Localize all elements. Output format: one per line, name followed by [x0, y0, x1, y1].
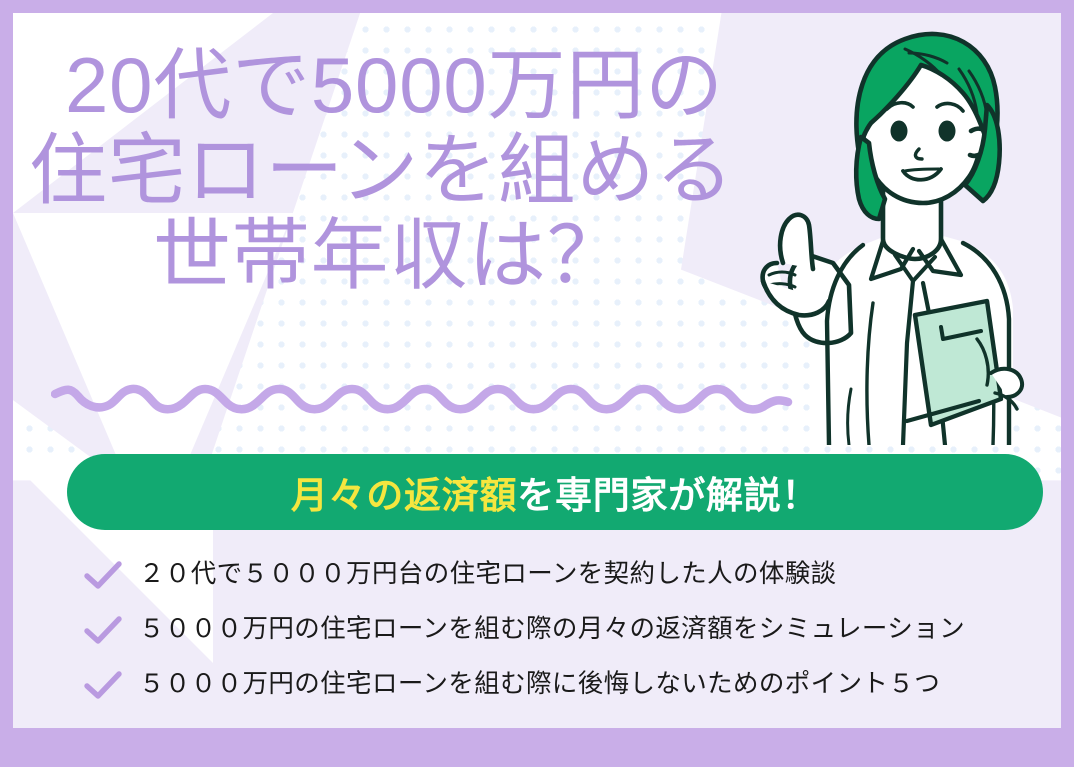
subtitle-banner: 月々の返済額を専門家が解説！: [67, 454, 1043, 530]
subtitle-banner-text: 月々の返済額を専門家が解説！: [291, 465, 819, 519]
subtitle-highlight: 月々の返済額: [291, 475, 517, 516]
list-item: ５０００万円の住宅ローンを組む際の月々の返済額をシミュレーション: [83, 602, 1043, 657]
title-line-3: 世帯年収は？: [13, 213, 833, 298]
list-item: ２０代で５０００万円台の住宅ローンを契約した人の体験談: [83, 547, 1043, 602]
title-line-1: 20代で5000万円の: [13, 43, 833, 128]
thumbnail-canvas: 20代で5000万円の 住宅ローンを組める 世帯年収は？: [0, 0, 1074, 767]
inner-panel: 20代で5000万円の 住宅ローンを組める 世帯年収は？: [13, 13, 1061, 728]
check-icon: [83, 616, 123, 646]
page-title: 20代で5000万円の 住宅ローンを組める 世帯年収は？: [13, 43, 833, 298]
woman-pointing-up-illustration: [755, 13, 1055, 445]
list-item-label: ２０代で５０００万円台の住宅ローンを契約した人の体験談: [139, 562, 837, 588]
list-item: ５０００万円の住宅ローンを組む際に後悔しないためのポイント５つ: [83, 657, 1043, 712]
list-item-label: ５０００万円の住宅ローンを組む際に後悔しないためのポイント５つ: [139, 672, 940, 698]
bullet-list: ２０代で５０００万円台の住宅ローンを契約した人の体験談 ５０００万円の住宅ローン…: [83, 547, 1043, 712]
check-icon: [83, 561, 123, 591]
subtitle-rest: を専門家が解説！: [517, 475, 819, 516]
check-icon: [83, 671, 123, 701]
title-line-2: 住宅ローンを組める: [13, 128, 833, 213]
list-item-label: ５０００万円の住宅ローンを組む際の月々の返済額をシミュレーション: [139, 617, 965, 643]
wavy-underline-icon: [51, 384, 796, 418]
